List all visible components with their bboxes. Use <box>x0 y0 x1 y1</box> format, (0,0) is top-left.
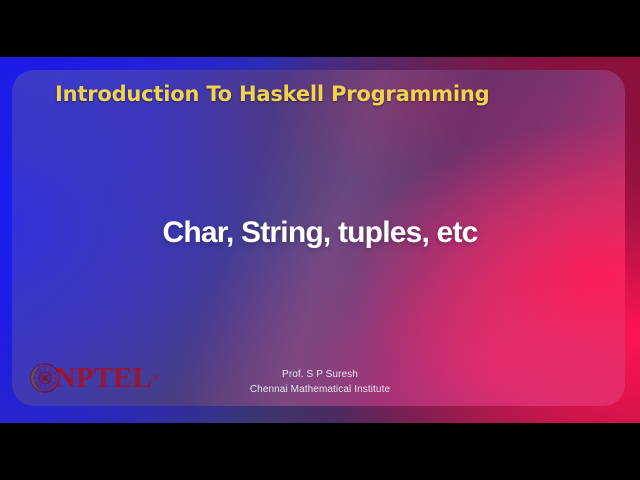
letterbox-bar-top <box>0 0 640 57</box>
presenter-name: Prof. S P Suresh <box>0 367 640 382</box>
presenter-affiliation: Chennai Mathematical Institute <box>0 382 640 397</box>
slide-heading: Char, String, tuples, etc <box>0 216 640 250</box>
slide-title: Introduction To Haskell Programming <box>55 82 490 106</box>
video-frame: Introduction To Haskell Programming Char… <box>0 0 640 480</box>
letterbox-bar-bottom <box>0 423 640 480</box>
presenter-credits: Prof. S P Suresh Chennai Mathematical In… <box>0 367 640 397</box>
